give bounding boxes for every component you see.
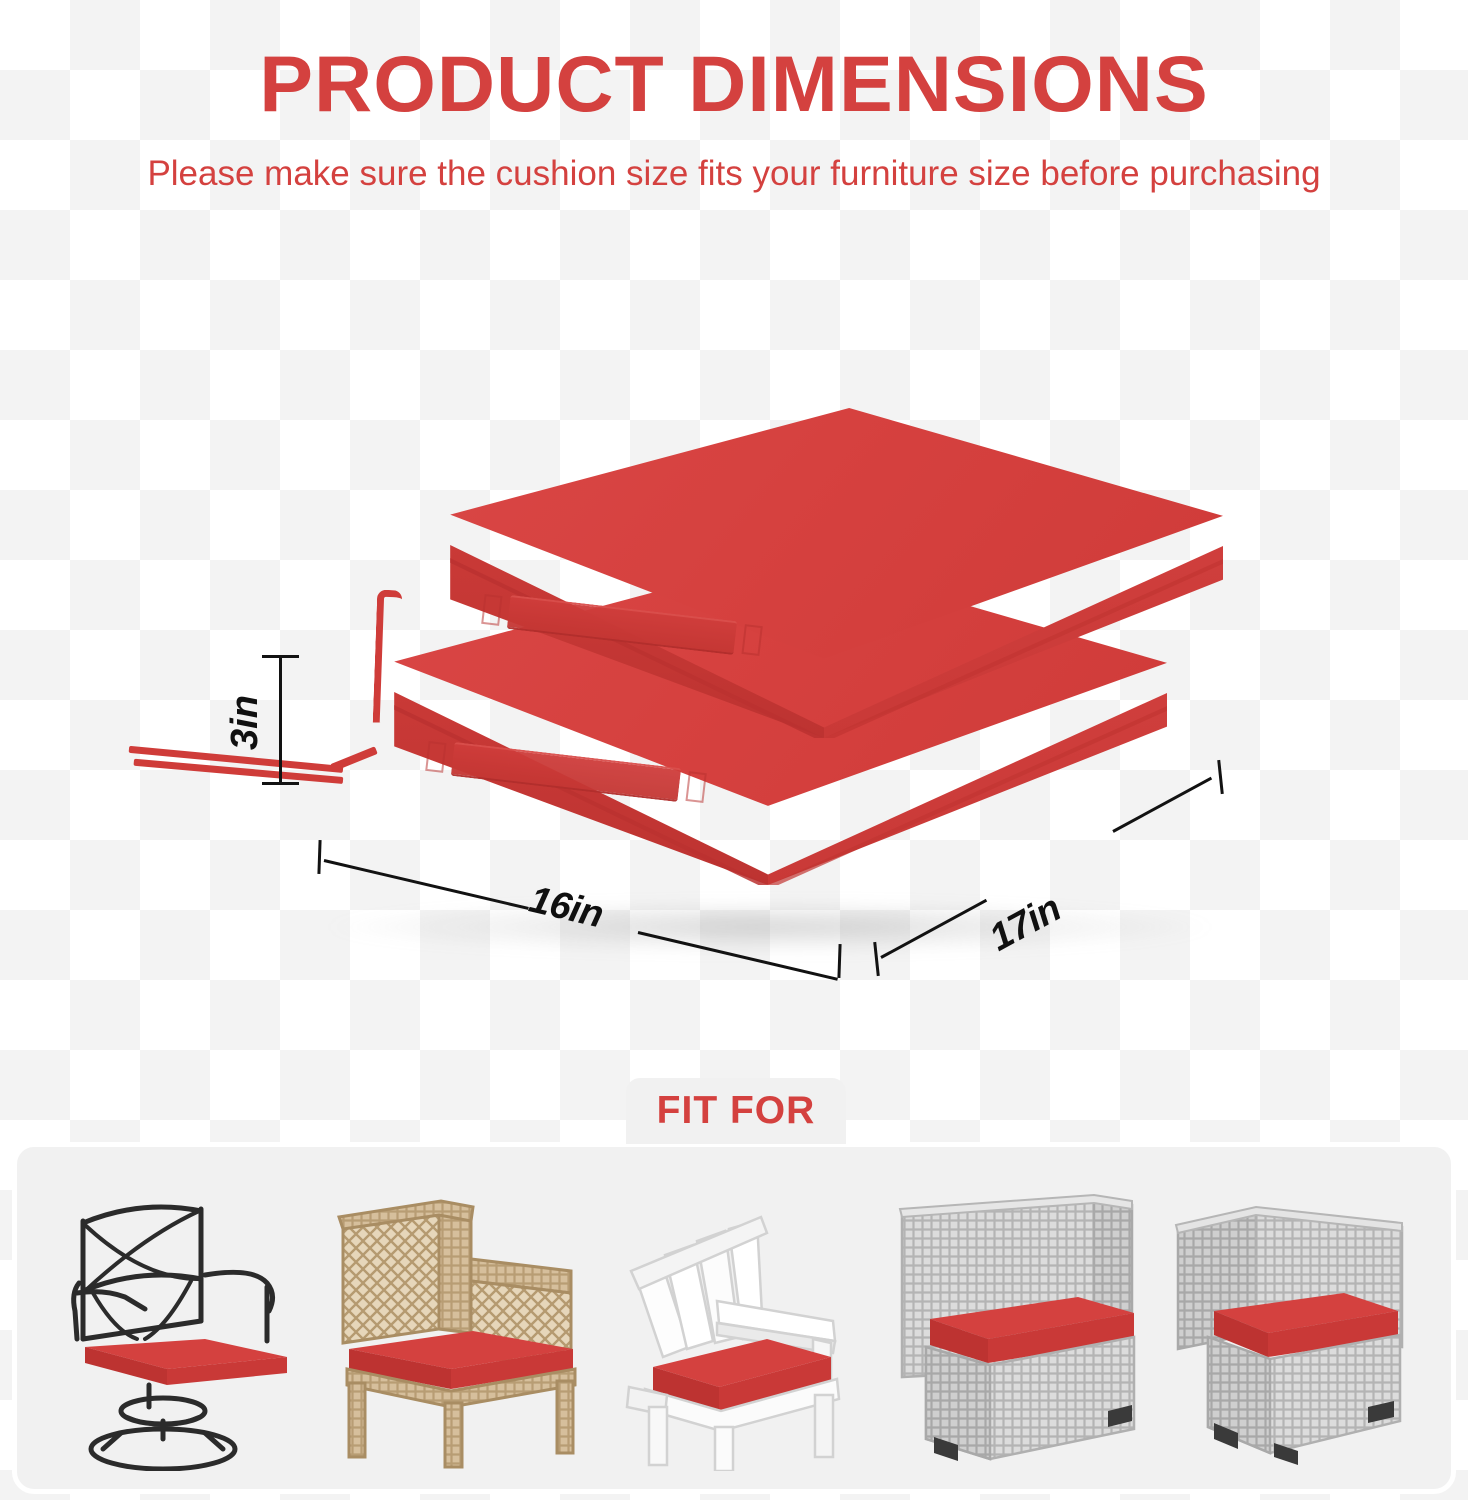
dimension-label-depth: 17in xyxy=(983,887,1069,960)
dimension-label-width: 16in xyxy=(525,879,607,938)
page-subtitle: Please make sure the cushion size fits y… xyxy=(0,151,1468,197)
fit-for-tab: FIT FOR xyxy=(626,1078,846,1144)
dimension-width: 16in xyxy=(318,840,858,985)
handle-stitch-icon xyxy=(741,624,762,656)
grey-rattan-corner-sectional-icon xyxy=(1162,1171,1427,1471)
dimension-line xyxy=(638,931,838,981)
page-title: PRODUCT DIMENSIONS xyxy=(0,44,1468,123)
dimension-label-thickness: 3in xyxy=(224,695,267,750)
fit-for-item-white-adirondack-chair xyxy=(601,1171,866,1471)
dimension-line xyxy=(880,899,987,959)
dimension-tick xyxy=(873,942,880,976)
header: PRODUCT DIMENSIONS Please make sure the … xyxy=(0,0,1468,197)
dimension-tick xyxy=(1217,760,1224,794)
dimension-tick xyxy=(317,840,321,874)
dimension-depth: 17in xyxy=(875,760,1235,980)
fit-for-label: FIT FOR xyxy=(657,1089,816,1133)
white-adirondack-chair-icon xyxy=(601,1171,866,1471)
fit-for-panel xyxy=(12,1142,1456,1494)
fit-for-item-grey-rattan-armless-sofa xyxy=(882,1171,1147,1471)
wicker-rattan-armchair-icon xyxy=(321,1171,586,1471)
dimension-line xyxy=(324,859,529,910)
dimension-tick xyxy=(262,782,299,785)
fit-for-item-list xyxy=(17,1147,1451,1489)
grey-rattan-armless-sofa-icon xyxy=(882,1171,1147,1471)
fit-for-item-wicker-rattan-armchair xyxy=(321,1171,586,1471)
handle-stitch-icon xyxy=(685,771,706,803)
infographic-root: PRODUCT DIMENSIONS Please make sure the … xyxy=(0,0,1468,1500)
product-illustration: 3in 16in 17in xyxy=(0,300,1468,1060)
fit-for-item-grey-rattan-corner-sectional xyxy=(1162,1171,1427,1471)
cushion-top xyxy=(383,408,1251,758)
metal-swivel-dining-chair-icon xyxy=(41,1171,306,1471)
handle-stitch-icon xyxy=(481,594,502,626)
dimension-line xyxy=(279,655,282,785)
dimension-line xyxy=(1112,777,1212,833)
fit-for-item-metal-swivel-dining-chair xyxy=(41,1171,306,1471)
dimension-tick xyxy=(837,944,841,978)
